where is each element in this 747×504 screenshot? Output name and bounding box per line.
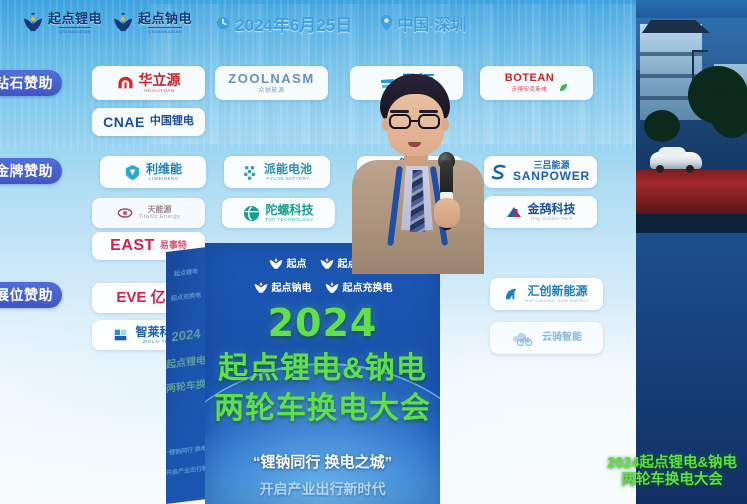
hc-icon (503, 286, 520, 303)
speaker-person (352, 74, 484, 274)
dot-cluster-icon (242, 164, 259, 181)
street-photo-panel (636, 18, 747, 233)
podium-title-line1: 起点锂电&钠电 (205, 343, 440, 387)
podium-slogan-sub: 开启产业出行新时代 (205, 479, 440, 499)
speaker-eyebrow (390, 110, 409, 113)
brand-name: 起点钠电 (138, 12, 192, 25)
sponsor-card[interactable]: 陀螺科技 TOP TECHNOLOGY (222, 198, 335, 228)
eagle-icon (268, 256, 284, 270)
podium-side-year: 2024 (166, 325, 206, 345)
globe-icon (243, 205, 260, 222)
map-pin-icon (380, 15, 393, 31)
photo-car-wheel (656, 165, 664, 173)
sponsor-sub: TOP TECHNOLOGY (265, 217, 314, 222)
photo-tree (644, 110, 680, 142)
brand-sub: QIDIANLIDIAN (59, 27, 90, 34)
podium-logo-label: 起点钠电 (272, 279, 312, 294)
sponsor-card[interactable]: 汇创新能源 HUI CHUANG NEW ENERGY (490, 278, 603, 310)
brand-name: 起点锂电 (48, 12, 102, 25)
podium-logo-row-2: 起点钠电 起点充换电 (205, 279, 440, 294)
ring-icon (117, 205, 134, 222)
sponsor-name: 陀螺科技 (265, 204, 313, 217)
podium-side-title2: 两轮车换电大会 (166, 375, 206, 395)
tier-label-gold: 金牌赞助 (0, 158, 62, 184)
sponsor-name: ZOOLNASM (228, 72, 314, 86)
eagle-icon (112, 13, 134, 33)
svg-text:1: 1 (513, 207, 521, 220)
glasses-bridge (409, 120, 418, 122)
sponsor-text: 陀螺科技 TOP TECHNOLOGY (265, 204, 314, 222)
location-text: 中国·深圳 (397, 11, 466, 35)
right-top-bar (636, 0, 747, 18)
sponsor-name: 派能电池 (264, 163, 312, 176)
sponsor-name: 利维能 (146, 163, 182, 176)
sponsor-card[interactable]: 1 金鸹科技 Jing Golden Tech (484, 196, 597, 228)
caption-line-1: 2024起点锂电&钠电 (607, 455, 737, 473)
eagle-icon (22, 13, 44, 33)
podium-logo: 起点充换电 (324, 279, 393, 294)
sponsor-text: 华立源 HUALIYUAN (139, 73, 181, 93)
sponsor-name: 天能源 (147, 206, 171, 214)
sponsor-card[interactable]: 三吕能源 SANPOWER (484, 156, 597, 188)
podium-title-line2: 两轮车换电大会 (205, 383, 440, 427)
brand-text-block: 起点锂电 QIDIANLIDIAN (48, 12, 102, 34)
podium-logo: 起点钠电 (253, 279, 312, 294)
screenshot-stage: 起点锂电 QIDIANLIDIAN 起点钠电 QIDIANNADIAN (0, 0, 747, 504)
photo-tree (710, 88, 747, 138)
header-bar: 起点锂电 QIDIANLIDIAN 起点钠电 QIDIANNADIAN (0, 0, 640, 46)
sponsor-card[interactable]: 派能电池 PYLON BATTERY (224, 156, 330, 188)
podium-side-title1: 起点锂电&钠电 (166, 351, 206, 371)
sponsor-card[interactable]: 利维能 LIWEINENG (100, 156, 206, 188)
teal-shield-icon (124, 164, 141, 181)
podium-side-logos: 起点充换电 (166, 289, 206, 303)
eagle-icon (319, 256, 335, 270)
brand-text-block: 起点钠电 QIDIANNADIAN (138, 12, 192, 34)
podium-logo-label: 起点充换电 (343, 279, 393, 294)
eagle-icon (253, 280, 269, 294)
sponsor-text: 利维能 LIWEINENG (146, 163, 182, 181)
sponsor-card[interactable]: 天能源 Titanic Energy (92, 198, 205, 228)
cloud-bike-icon (511, 328, 537, 348)
podium-side-logos: 起点锂电 (166, 265, 206, 279)
speaker-ear (441, 118, 449, 131)
blue-block-icon (113, 327, 130, 344)
sponsor-name: EAST (110, 238, 155, 255)
sponsor-card[interactable]: ZOOLNASM 众钠能源 (215, 66, 328, 100)
photo-foreground (636, 214, 747, 233)
speaker-hand (434, 198, 460, 228)
brand-lithium: 起点锂电 QIDIANLIDIAN (22, 12, 102, 34)
podium-year: 2024 (205, 301, 440, 345)
sponsor-sub: SANPOWER (513, 170, 590, 183)
sponsor-card[interactable]: 云骑智能 (490, 322, 603, 354)
red-arch-icon (117, 75, 134, 92)
sponsor-sub: Titanic Energy (139, 214, 181, 220)
sponsor-sub: PYLON BATTERY (266, 176, 309, 181)
sponsor-name: BOTEAN (505, 73, 554, 85)
date-text: 2024年6月25日 (235, 11, 352, 36)
glasses-icon (418, 114, 440, 129)
sponsor-name: 汇创新能源 (527, 285, 587, 298)
bottom-caption: 2024起点锂电&钠电 两轮车换电大会 (607, 455, 737, 490)
sponsor-text: 派能电池 PYLON BATTERY (264, 163, 312, 181)
podium-front-panel: 起点 起点锂电 (205, 243, 440, 504)
clock-icon (216, 16, 230, 30)
brand-sub: QIDIANNADIAN (148, 27, 182, 34)
event-location: 中国·深圳 (380, 11, 466, 35)
s-swoosh-icon (491, 164, 508, 181)
sponsor-sub: HUI CHUANG NEW ENERGY (525, 298, 589, 303)
podium-side-slogan-sub: 开启产业出行新时代 (166, 463, 206, 477)
leaf-icon (559, 79, 568, 88)
glasses-icon (389, 114, 411, 129)
podium-slogan: “锂钠同行 换电之城” (205, 451, 440, 472)
sponsor-sub: 中国锂电 (150, 116, 194, 128)
sponsor-name: 金鸹科技 (527, 203, 575, 216)
podium-logo-label: 起点 (287, 255, 307, 270)
speaker-eyebrow (419, 110, 438, 113)
podium-side-slogan: “锂钠同行 换电之城” (166, 443, 206, 457)
caption-line-2: 两轮车换电大会 (607, 472, 737, 490)
sponsor-text: 金鸹科技 Jing Golden Tech (527, 203, 575, 221)
sponsor-card[interactable]: CNAE 中国锂电 (92, 108, 205, 136)
sponsor-text: 三吕能源 SANPOWER (513, 161, 590, 183)
event-date: 2024年6月25日 (216, 11, 352, 36)
brand-sodium: 起点钠电 QIDIANNADIAN (112, 12, 192, 34)
tier-label-booth: 展位赞助 (0, 282, 62, 308)
sponsor-name: 云骑智能 (542, 333, 582, 344)
sponsor-text: 汇创新能源 HUI CHUANG NEW ENERGY (525, 285, 589, 303)
podium-logo: 起点 (268, 255, 307, 270)
sponsor-sub: Jing Golden Tech (530, 216, 573, 221)
sponsor-name: 华立源 (139, 73, 181, 88)
sponsor-sub: LIWEINENG (149, 176, 179, 181)
sponsor-card[interactable]: BOTEAN 沃博安克新电 (480, 66, 593, 100)
tier-label-diamond: 钻石赞助 (0, 70, 62, 96)
podium-side-panel: 起点锂电 起点充换电 2024 起点锂电&钠电 两轮车换电大会 “锂钠同行 换电… (166, 247, 206, 504)
sponsor-name: CNAE (103, 115, 145, 130)
sponsor-text: ZOOLNASM 众钠能源 (228, 72, 314, 95)
photo-car-wheel (686, 165, 694, 173)
photo-road (636, 170, 747, 214)
sponsor-sub: 沃博安克新电 (511, 85, 547, 93)
red-one-icon: 1 (505, 204, 522, 221)
sponsor-text: BOTEAN 沃博安克新电 (505, 73, 554, 93)
sponsor-sub: HUALIYUAN (144, 88, 174, 93)
eagle-icon (324, 280, 340, 294)
sponsor-card[interactable]: 华立源 HUALIYUAN (92, 66, 205, 100)
sponsor-text: 天能源 Titanic Energy (139, 206, 181, 220)
sponsor-sub: 众钠能源 (258, 85, 284, 94)
